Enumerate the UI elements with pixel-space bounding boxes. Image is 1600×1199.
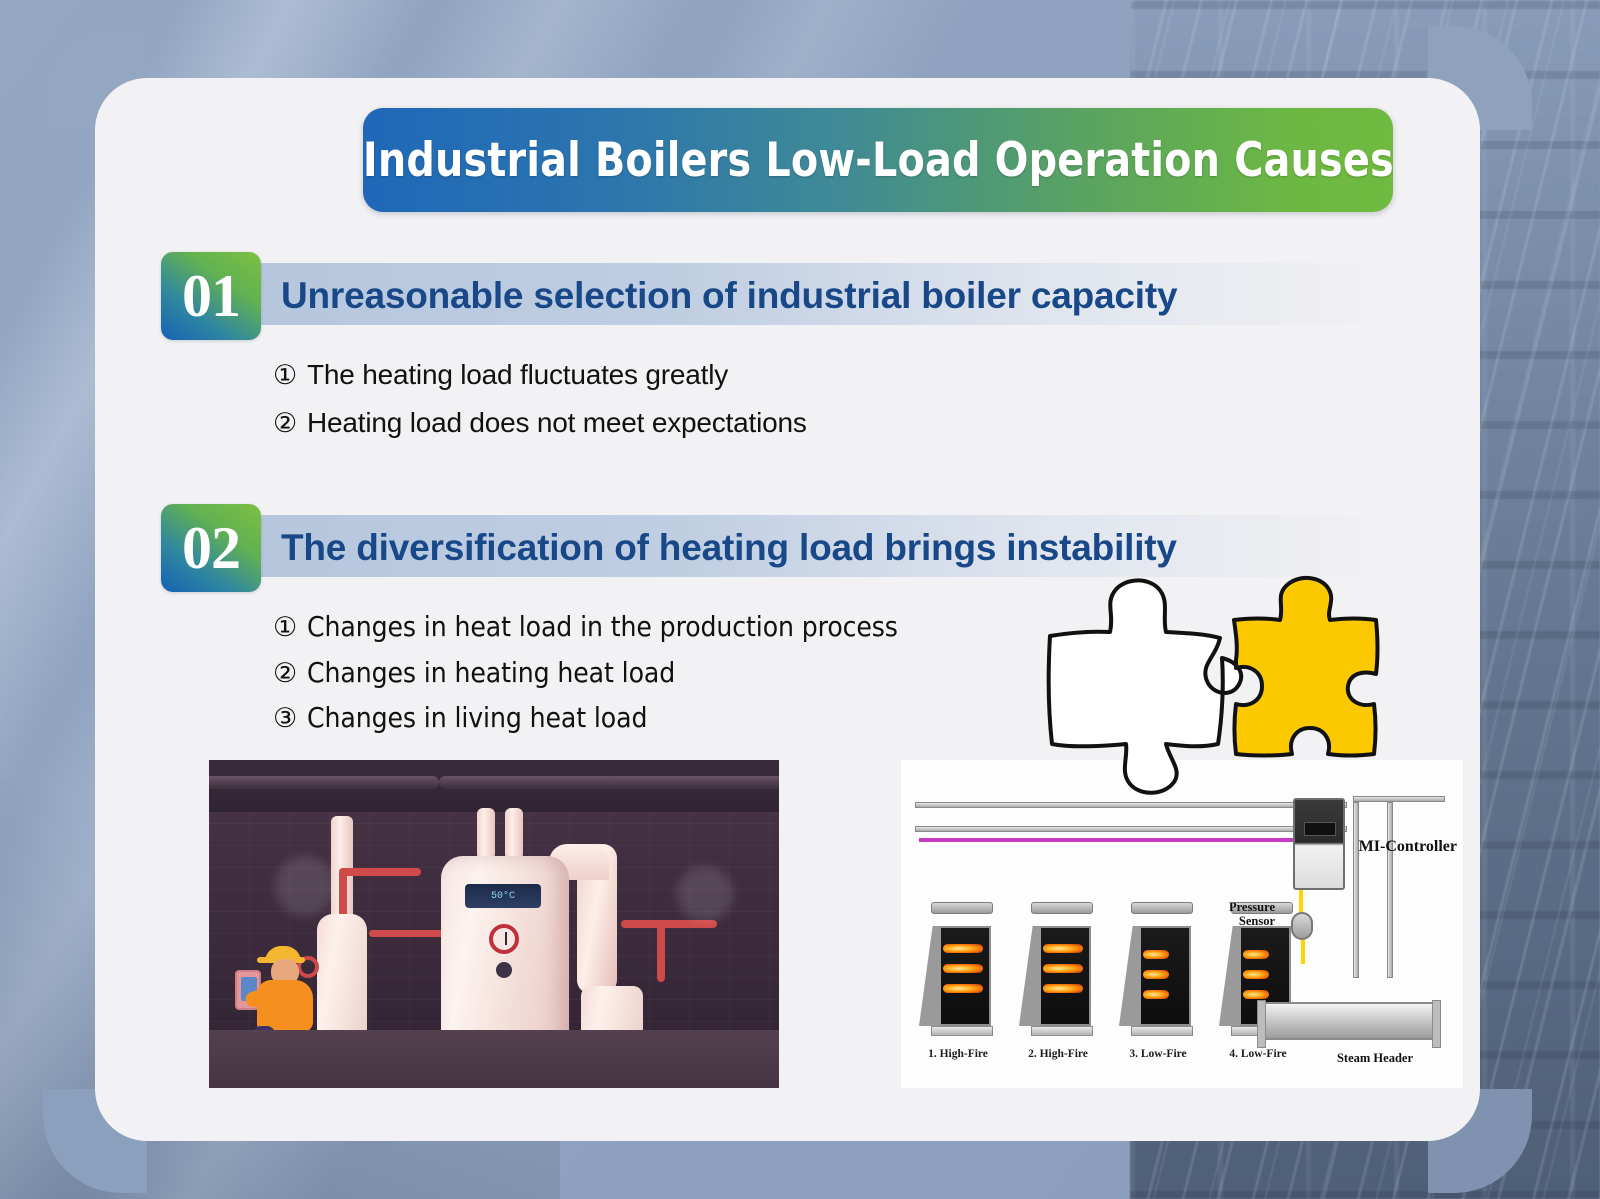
corner-notch-top-left [95,78,147,130]
flame-icon [1043,984,1083,993]
flame-icon [1243,970,1269,979]
ceiling-pipe [209,776,439,789]
boiler-base [931,1026,993,1036]
boiler-temperature-display: 50°C [465,884,541,908]
boiler-base [1031,1026,1093,1036]
list-item: ① The heating load fluctuates greatly [273,358,1451,392]
boiler-room-illustration: 50°C [209,760,779,1088]
flame-icon [1143,990,1169,999]
puzzle-piece-yellow-icon [1234,578,1378,756]
slide-canvas: Industrial Boilers Low-Load Operation Ca… [0,0,1600,1199]
bullet-marker-icon: ② [273,407,307,439]
boiler-top [931,902,993,914]
boiler-shell [933,926,991,1026]
list-item: ② Heating load does not meet expectation… [273,406,1451,440]
flame-icon [1043,964,1083,973]
boiler-top [1131,902,1193,914]
boiler-shell [1033,926,1091,1026]
vertical-pipe [477,808,495,860]
return-header-pipe [915,826,1347,832]
puzzle-piece-white-icon [1049,580,1241,792]
boiler-top [1031,902,1093,914]
flame-icon [1243,990,1269,999]
bullet-text: Changes in heating heat load [307,656,675,690]
content-card: Industrial Boilers Low-Load Operation Ca… [95,78,1480,1141]
main-boiler: 50°C [441,856,569,1056]
section-02-number-badge: 02 [161,504,261,592]
bullet-marker-icon: ① [273,611,307,643]
flame-icon [1143,970,1169,979]
boiler-bevel [1019,926,1041,1026]
flame-icon [1043,944,1083,953]
flame-icon [943,964,983,973]
boiler-bevel [919,926,941,1026]
corner-notch-bottom-right [1428,1089,1480,1141]
section-01-header: 01 Unreasonable selection of industrial … [161,252,1451,340]
steam-header-drum [1257,1002,1441,1040]
corner-notch-top-right [1428,78,1480,130]
mi-controller-label: MI-Controller [1359,838,1457,856]
boiler-shell [1133,926,1191,1026]
worker-body [257,980,313,1032]
boiler-unit: 1. High-Fire [919,908,991,1026]
bullet-text: Heating load does not meet expectations [307,406,807,440]
boiler-bevel [1119,926,1141,1026]
red-pipe [369,930,451,937]
steam-puff [677,866,733,922]
section-01-heading: Unreasonable selection of industrial boi… [281,275,1177,317]
boiler-base [1131,1026,1193,1036]
bullet-text: Changes in heat load in the production p… [307,610,898,644]
steam-header-label: Steam Header [1337,1051,1413,1066]
floor [209,1030,779,1088]
riser-pipe [1387,802,1393,978]
ceiling-pipe [439,776,619,789]
bullet-marker-icon: ③ [273,702,307,734]
red-pipe [657,920,665,982]
boiler-knob [496,962,512,978]
ceiling-pipe [609,776,779,789]
pressure-sensor-label: Pressure Sensor [1185,900,1275,929]
pressure-sensor-icon [1291,912,1313,940]
section-01-number-badge: 01 [161,252,261,340]
riser-pipe [1353,802,1359,978]
section-01: 01 Unreasonable selection of industrial … [161,252,1451,453]
bullet-text: Changes in living heat load [307,701,647,735]
pressure-gauge-icon [489,924,519,954]
boiler-bevel [1219,926,1241,1026]
boiler-label: 1. High-Fire [919,1048,997,1060]
boiler-label: 2. High-Fire [1019,1048,1097,1060]
flame-icon [1143,950,1169,959]
corner-notch-bottom-left [95,1089,147,1141]
section-01-bullet-list: ① The heating load fluctuates greatly ② … [273,358,1451,439]
steam-puff [275,856,335,916]
flue-duct [577,844,617,994]
bullet-text: The heating load fluctuates greatly [307,358,728,392]
flame-icon [943,984,983,993]
page-title: Industrial Boilers Low-Load Operation Ca… [362,133,1393,188]
section-02-number: 02 [182,518,240,578]
flame-icon [1243,950,1269,959]
bullet-marker-icon: ② [273,657,307,689]
boiler-label: 4. Low-Fire [1219,1048,1297,1060]
title-banner: Industrial Boilers Low-Load Operation Ca… [363,108,1393,212]
boiler-unit: 2. High-Fire [1019,908,1091,1026]
vertical-pipe [505,808,523,860]
section-01-number: 01 [182,266,240,326]
bullet-marker-icon: ① [273,359,307,391]
boiler-label: 3. Low-Fire [1119,1048,1197,1060]
red-pipe [339,868,421,876]
signal-line [919,838,1339,842]
puzzle-pieces-graphic [1010,558,1390,818]
flame-icon [943,944,983,953]
sensor-lead [1301,940,1305,964]
boiler-unit: 3. Low-Fire [1119,908,1191,1026]
